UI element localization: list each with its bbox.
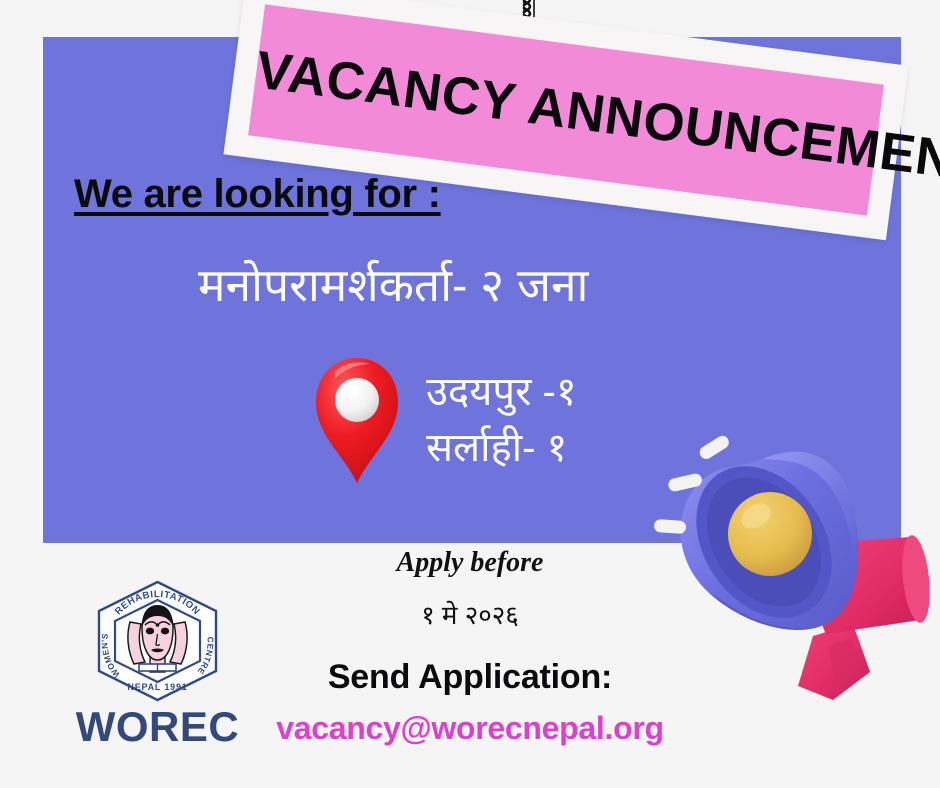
map-pin-icon xyxy=(312,355,402,485)
location-list: उदयपुर -१ सर्लाही- १ xyxy=(426,371,577,469)
logo-founded-text: NEPAL 1991 xyxy=(127,682,187,692)
banner-title: VACANCY ANNOUNCEMENT xyxy=(253,44,879,177)
vacancy-announcement-poster: VACANCY ANNOUNCEMENT We are looking for … xyxy=(0,0,940,788)
worec-logo: REHABILITATION WOMEN'S CENTRE NEPAL 1991… xyxy=(55,578,260,748)
megaphone-icon xyxy=(648,424,940,714)
worec-emblem-icon: REHABILITATION WOMEN'S CENTRE NEPAL 1991 xyxy=(90,578,225,704)
logo-wordmark: WOREC xyxy=(55,706,260,748)
list-item: सर्लाही- १ xyxy=(426,427,577,469)
position-title: मनोपरामर्शकर्ता- २ जना xyxy=(198,253,588,315)
list-item: उदयपुर -१ xyxy=(426,371,577,413)
looking-for-heading: We are looking for : xyxy=(74,172,441,217)
locations-block: उदयपुर -१ सर्लाही- १ xyxy=(312,355,577,485)
